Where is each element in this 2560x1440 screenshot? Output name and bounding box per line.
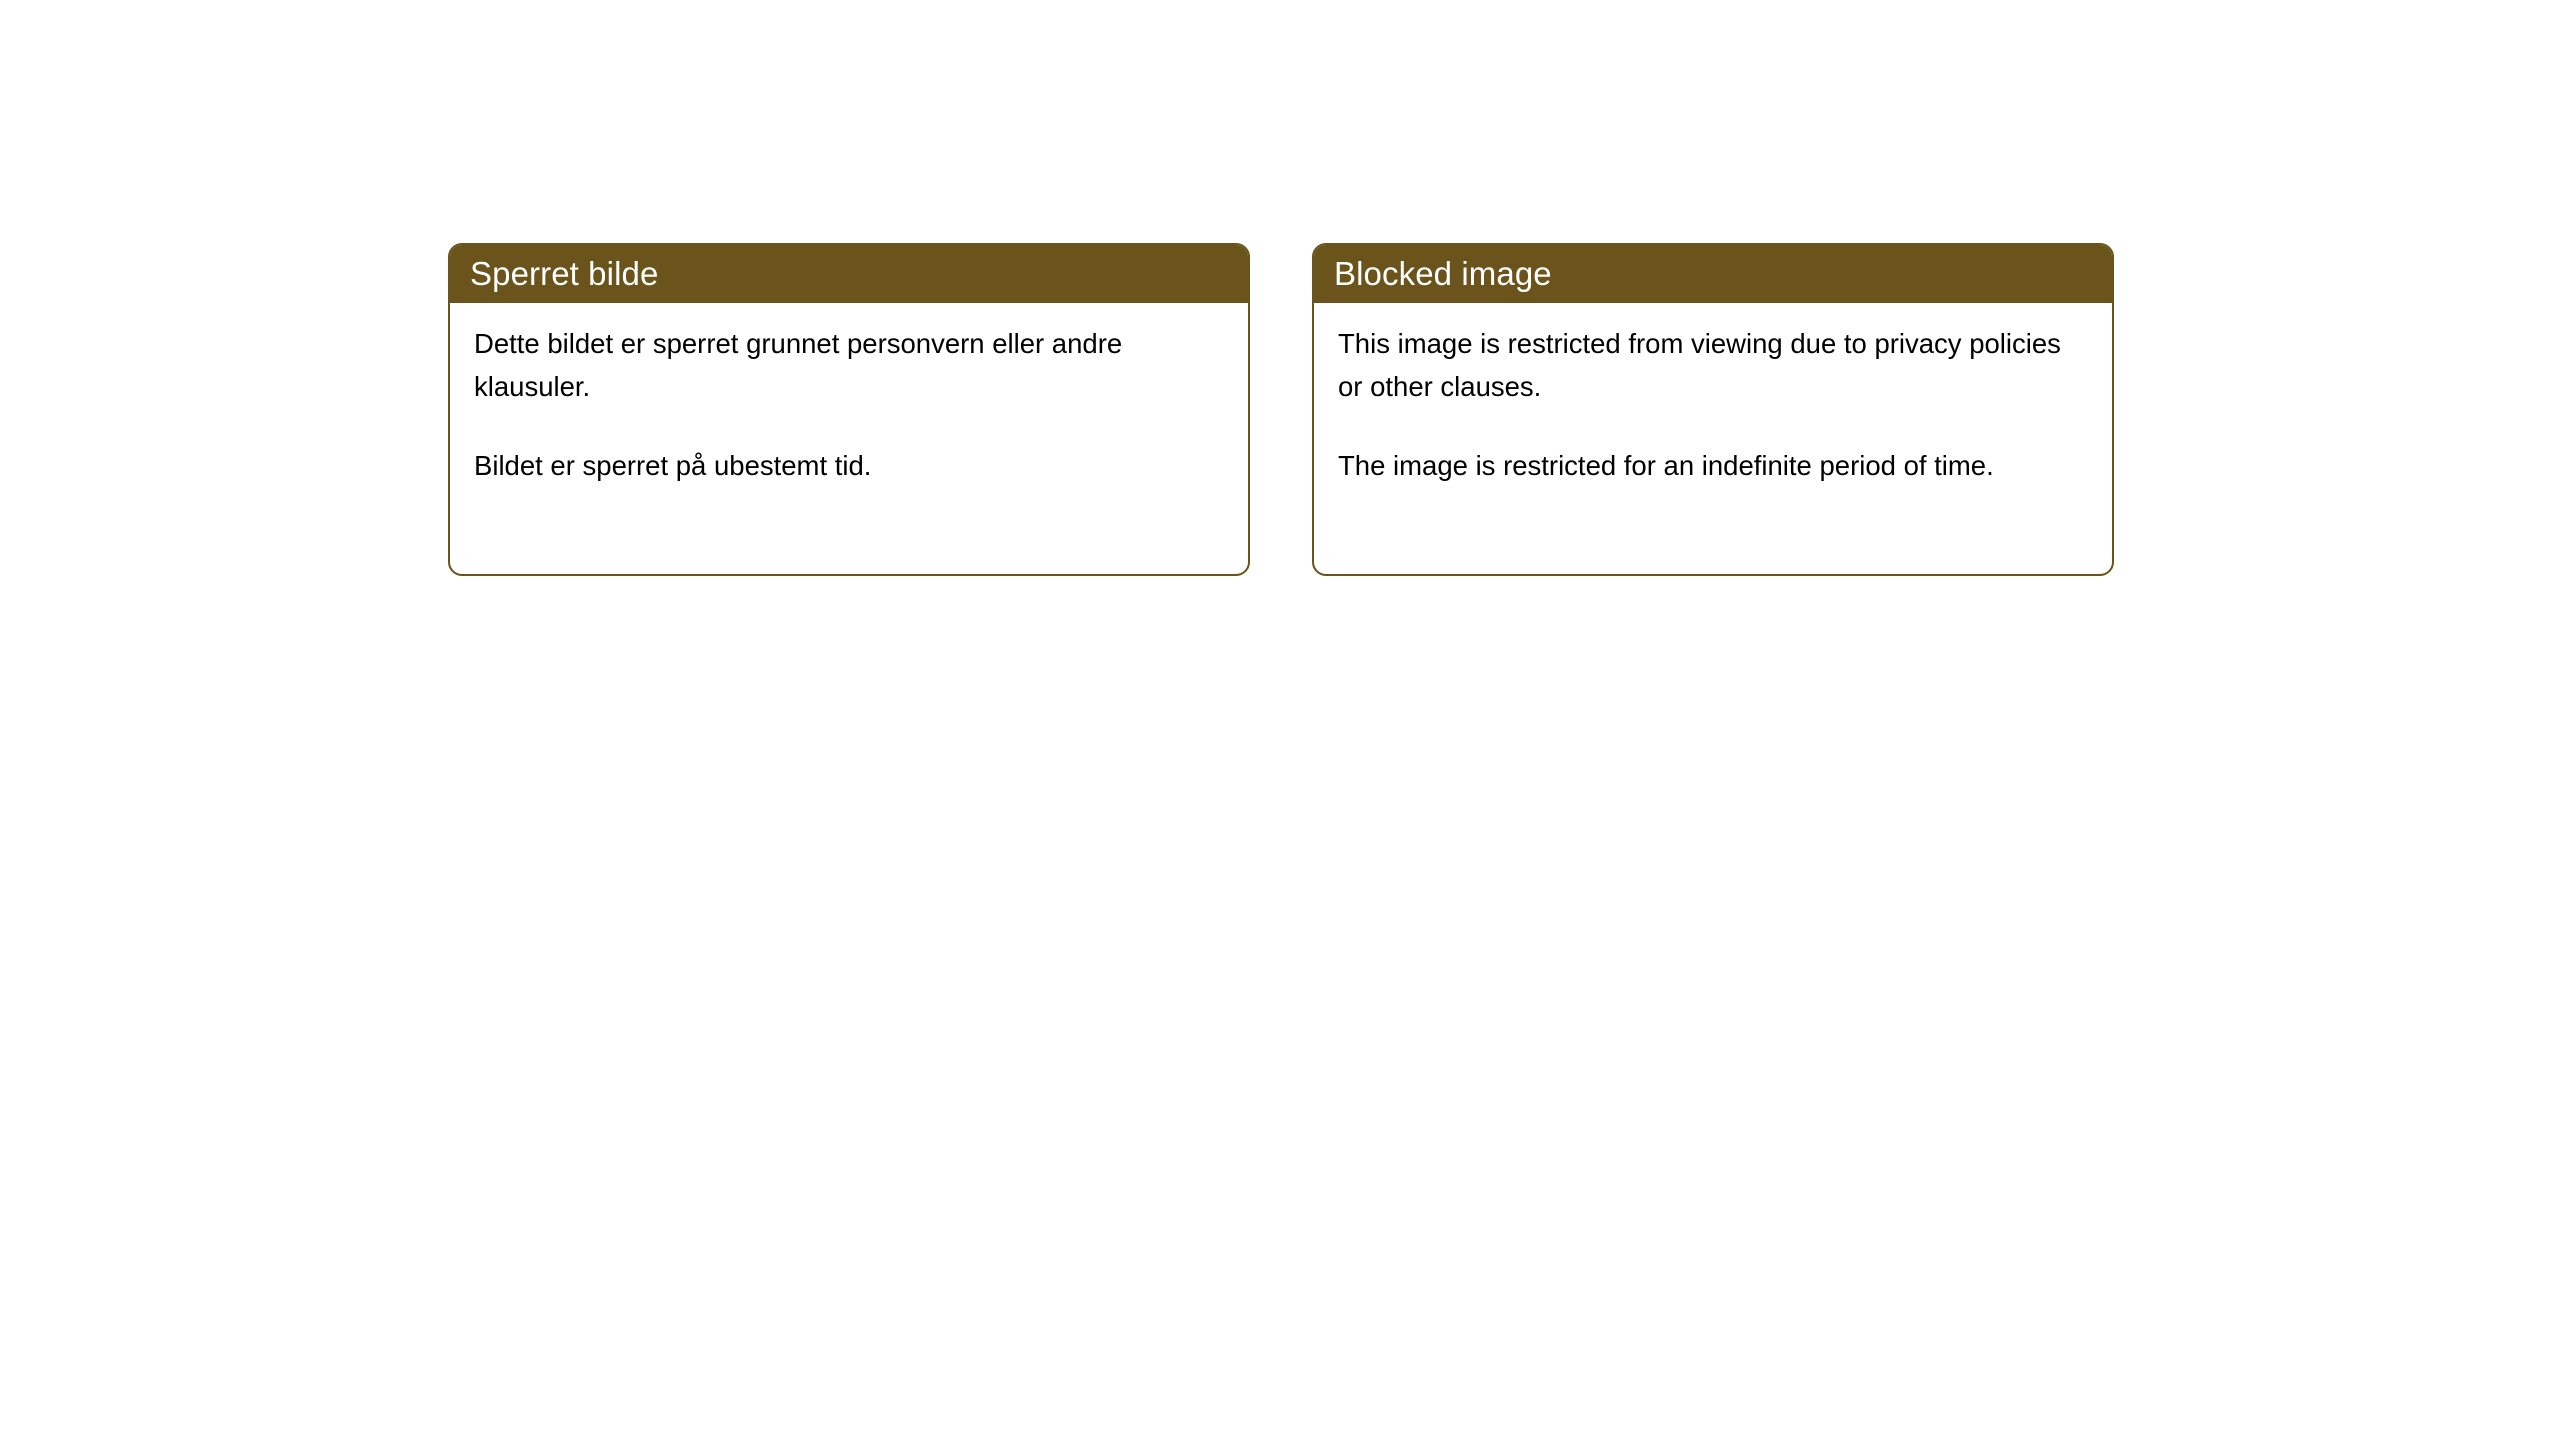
notice-body-en: This image is restricted from viewing du… [1314, 303, 2112, 487]
notice-paragraph-duration-en: The image is restricted for an indefinit… [1338, 444, 2088, 487]
blocked-image-notice-card-en: Blocked image This image is restricted f… [1312, 243, 2114, 576]
page-canvas: Sperret bilde Dette bildet er sperret gr… [0, 0, 2560, 1440]
notice-paragraph-reason-no: Dette bildet er sperret grunnet personve… [474, 322, 1224, 408]
notice-body-no: Dette bildet er sperret grunnet personve… [450, 303, 1248, 487]
notice-header-no: Sperret bilde [448, 243, 1250, 303]
notice-header-en: Blocked image [1312, 243, 2114, 303]
notice-paragraph-duration-no: Bildet er sperret på ubestemt tid. [474, 444, 1224, 487]
blocked-image-notice-card-no: Sperret bilde Dette bildet er sperret gr… [448, 243, 1250, 576]
notice-title-en: Blocked image [1334, 257, 1552, 290]
notice-title-no: Sperret bilde [470, 257, 658, 290]
notice-paragraph-reason-en: This image is restricted from viewing du… [1338, 322, 2088, 408]
